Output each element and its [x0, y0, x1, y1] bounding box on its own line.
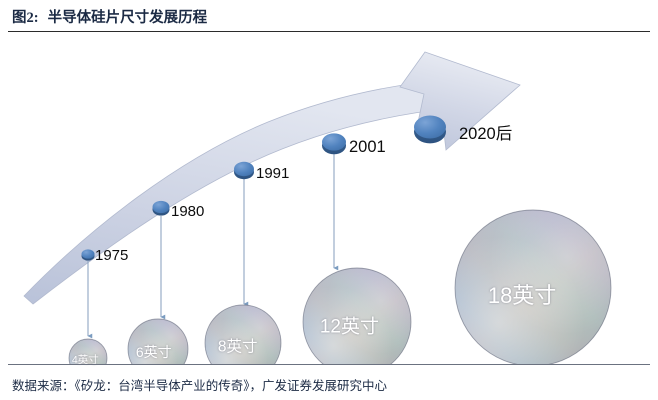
figure-container: 图2: 半导体硅片尺寸发展历程 — [0, 0, 658, 400]
timeline-marker[interactable] — [82, 249, 95, 260]
wafer-size-label-18: 18英寸 — [488, 285, 556, 307]
wafer-size-label-12: 12英寸 — [320, 318, 379, 337]
diagram-svg — [0, 32, 658, 364]
footer-divider — [8, 364, 650, 365]
timeline-marker[interactable] — [153, 201, 170, 216]
timeline-marker[interactable] — [414, 115, 446, 143]
timeline-marker[interactable] — [234, 162, 254, 179]
year-label-2001: 2001 — [349, 139, 386, 156]
source-note: 数据来源：《矽龙：台湾半导体产业的传奇》，广发证券发展研究中心 — [12, 375, 387, 394]
year-label-1991: 1991 — [256, 166, 289, 181]
year-label-1980: 1980 — [171, 204, 204, 219]
wafer-size-label-6: 6英寸 — [136, 345, 172, 359]
timeline-marker[interactable] — [322, 133, 346, 154]
page-title: 半导体硅片尺寸发展历程 — [48, 6, 208, 27]
figure-source-row: 数据来源：《矽龙：台湾半导体产业的传奇》，广发证券发展研究中心 — [12, 371, 652, 397]
figure-title-row: 图2: 半导体硅片尺寸发展历程 — [0, 0, 658, 32]
wafer-circle — [205, 305, 281, 364]
year-label-2020后: 2020后 — [459, 126, 512, 143]
diagram-canvas: 19751980199120012020后 4英寸6英寸8英寸12英寸18英寸 — [0, 32, 658, 364]
figure-number-label: 图2: — [12, 6, 39, 27]
wafer-size-label-8: 8英寸 — [218, 339, 258, 355]
year-label-1975: 1975 — [95, 248, 128, 263]
